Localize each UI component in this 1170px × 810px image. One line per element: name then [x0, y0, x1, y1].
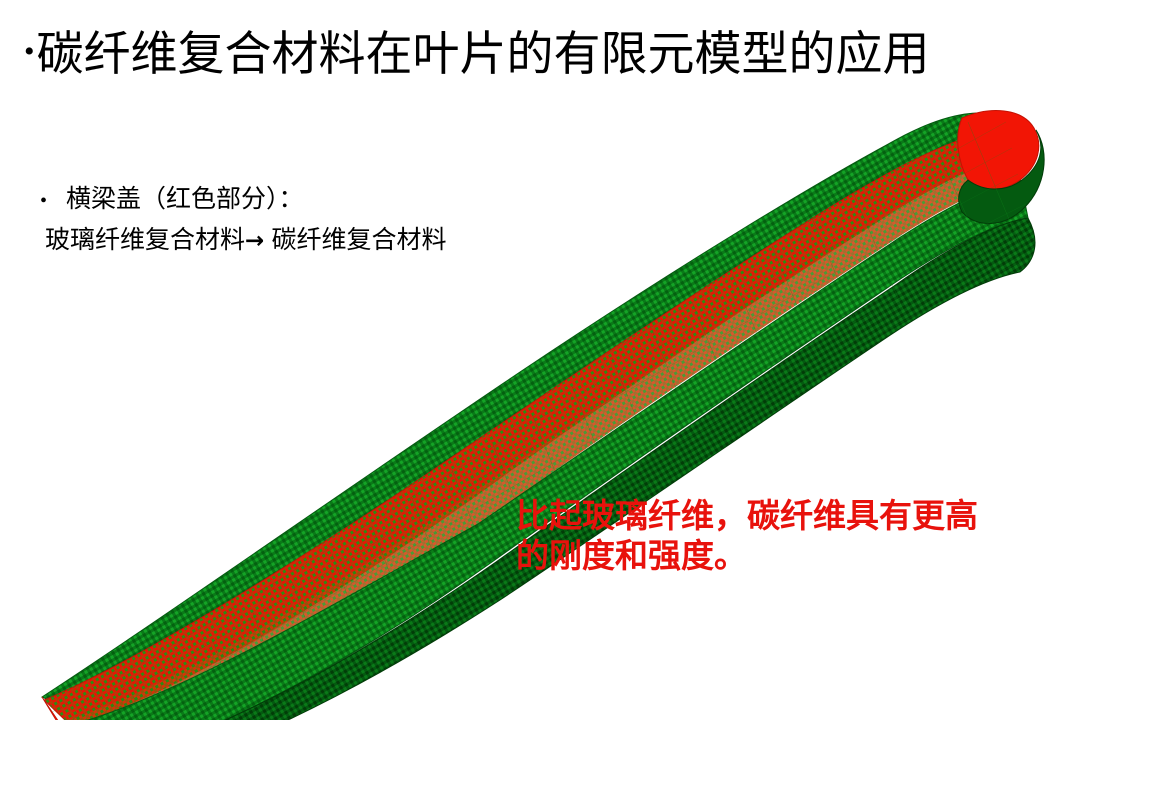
body-text-block: •横梁盖（红色部分）： 玻璃纤维复合材料→ 碳纤维复合材料	[40, 180, 680, 261]
title-bullet-icon: •	[24, 37, 35, 67]
blade-trailing-edge-shadow	[88, 218, 1035, 720]
callout-line-1: 比起玻璃纤维，碳纤维具有更高	[516, 496, 1116, 536]
page-title: • 碳纤维复合材料在叶片的有限元模型的应用	[24, 20, 1154, 90]
title-text: 碳纤维复合材料在叶片的有限元模型的应用	[37, 32, 930, 79]
body-line-2: 玻璃纤维复合材料→ 碳纤维复合材料	[40, 221, 680, 261]
blade-root-cap-green	[959, 130, 1045, 224]
right-arrow-icon: →	[245, 228, 265, 254]
callout-annotation: 比起玻璃纤维，碳纤维具有更高 的刚度和强度。	[516, 496, 1116, 576]
body-line-1: •横梁盖（红色部分）：	[40, 180, 680, 221]
blade-tip	[42, 697, 100, 720]
blade-root-cap-red	[958, 111, 1039, 189]
body-bullet-icon: •	[40, 181, 66, 221]
callout-line-2: 的刚度和强度。	[516, 536, 1116, 576]
material-from-label: 玻璃纤维复合材料	[45, 227, 245, 254]
material-to-label: 碳纤维复合材料	[265, 227, 446, 254]
body-line-1-text: 横梁盖（红色部分）：	[66, 186, 304, 213]
